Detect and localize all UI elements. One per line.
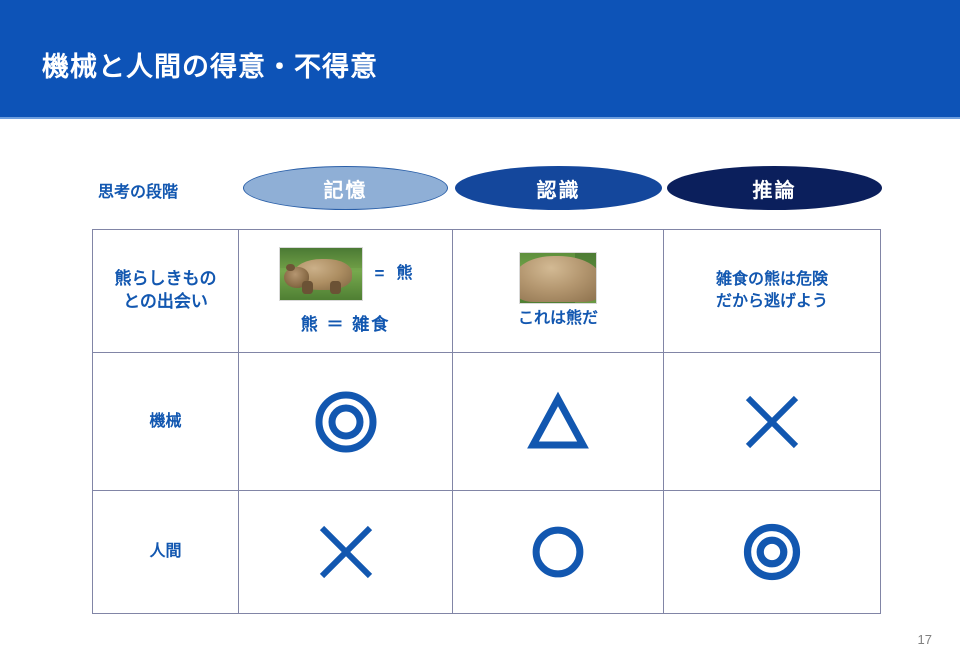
table-row: 人間 (93, 491, 881, 614)
row-header-scenario-line-2: との出会い (93, 291, 238, 314)
memory-rule-label: 熊 ＝ 雑食 (301, 310, 390, 335)
row-header-human: 人間 (93, 491, 239, 614)
cell-machine-recognition (453, 353, 664, 491)
row-header-scenario-line-1: 熊らしきもの (93, 268, 238, 291)
row-header-scenario: 熊らしきもの との出会い (93, 230, 239, 353)
stage-oval-recognition[interactable]: 認識 (455, 166, 662, 210)
cell-recognition-scenario: これは熊だ (453, 230, 664, 353)
bear-leg-shape (330, 281, 341, 293)
cross-icon (314, 520, 378, 584)
stage-oval-memory-label: 記憶 (324, 174, 368, 203)
cell-human-inference (664, 491, 881, 614)
cell-machine-memory (239, 353, 453, 491)
bear-fur-shape (519, 256, 597, 302)
thinking-stage-row: 思考の段階 記憶 認識 推論 (0, 166, 960, 214)
triangle-icon (526, 390, 590, 454)
double-circle-icon (743, 523, 801, 581)
cell-human-memory (239, 491, 453, 614)
inference-line-1: 雑食の熊は危険 (664, 269, 880, 291)
page-number: 17 (918, 632, 932, 647)
row-header-human-label: 人間 (93, 541, 238, 563)
stage-oval-memory[interactable]: 記憶 (243, 166, 448, 210)
thinking-stage-label: 思考の段階 (98, 178, 178, 202)
page-title: 機械と人間の得意・不得意 (42, 45, 378, 84)
header-accent-underline (0, 117, 960, 119)
cell-inference-scenario: 雑食の熊は危険 だから逃げよう (664, 230, 881, 353)
table-row: 機械 (93, 353, 881, 491)
memory-result-label: 熊 (396, 263, 412, 285)
capability-matrix-table: 熊らしきもの との出会い = 熊 (92, 229, 881, 614)
recognition-caption: これは熊だ (518, 308, 598, 330)
stage-oval-inference-label: 推論 (753, 174, 797, 203)
cross-icon (740, 390, 804, 454)
stage-oval-inference[interactable]: 推論 (667, 166, 882, 210)
table-row: 熊らしきもの との出会い = 熊 (93, 230, 881, 353)
row-header-machine: 機械 (93, 353, 239, 491)
cell-machine-inference (664, 353, 881, 491)
stage-oval-recognition-label: 認識 (537, 174, 581, 203)
cell-human-recognition (453, 491, 664, 614)
row-header-machine-label: 機械 (93, 411, 238, 433)
double-circle-icon (314, 390, 378, 454)
bear-leg-shape (302, 281, 313, 293)
bear-photo-full (279, 247, 363, 301)
bear-photo-closeup (519, 252, 597, 304)
equals-sign: = (375, 264, 385, 284)
inference-line-2: だから逃げよう (664, 291, 880, 313)
circle-icon (530, 524, 586, 580)
cell-memory-scenario: = 熊 熊 ＝ 雑食 (239, 230, 453, 353)
